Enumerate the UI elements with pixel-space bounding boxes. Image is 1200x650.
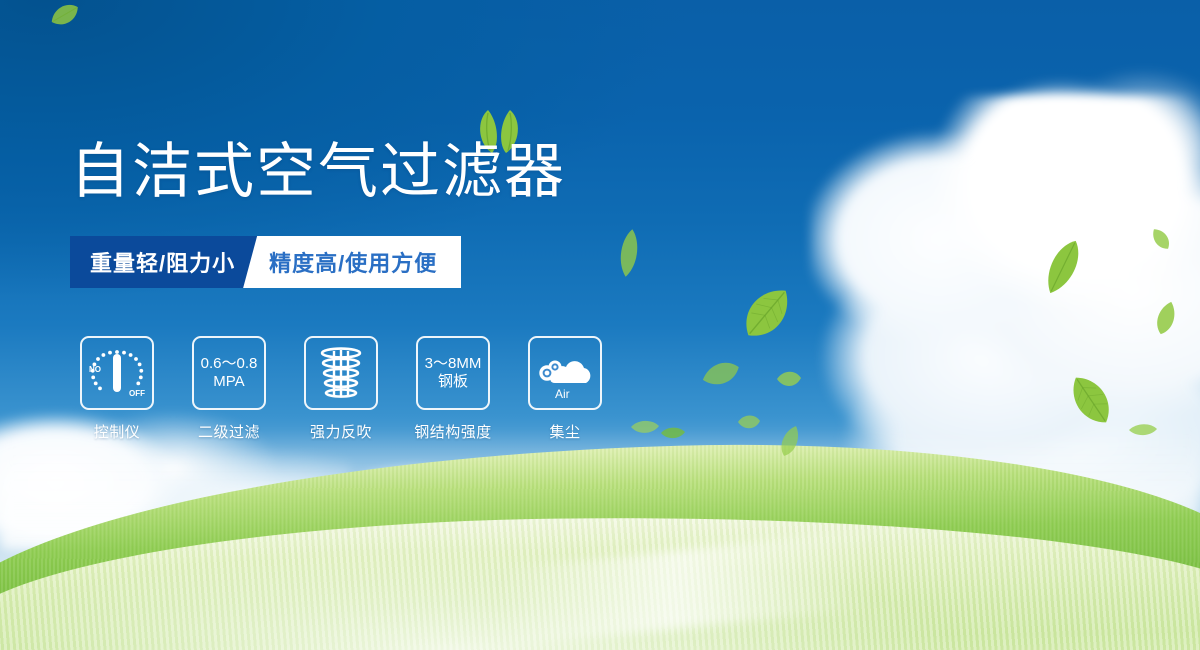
feature-icon-box: Air — [528, 336, 602, 410]
tagline-right: 精度高/使用方便 — [243, 236, 461, 288]
feature-icon-box: 0.6〜0.8MPA — [192, 336, 266, 410]
grass-field — [0, 420, 1200, 650]
feature-item-dust[interactable]: Air 集尘 — [518, 336, 612, 442]
feature-label: 强力反吹 — [310, 421, 372, 442]
pressure-text-icon: 0.6〜0.8MPA — [201, 355, 258, 392]
feature-item-filter[interactable]: 0.6〜0.8MPA 二级过滤 — [182, 336, 276, 442]
feature-item-control[interactable]: NO OFF 控制仪 — [70, 336, 164, 442]
feature-label: 集尘 — [549, 421, 580, 442]
feature-icon-box: 3〜8MM钢板 — [416, 336, 490, 410]
feature-label: 钢结构强度 — [414, 421, 492, 442]
feature-icon-box — [304, 336, 378, 410]
svg-text:Air: Air — [555, 387, 570, 401]
tagline-left: 重量轻/阻力小 — [70, 236, 257, 288]
coil-spring-icon — [312, 345, 370, 401]
svg-text:OFF: OFF — [129, 389, 145, 398]
svg-text:NO: NO — [89, 365, 101, 374]
feature-item-blowback[interactable]: 强力反吹 — [294, 336, 388, 442]
feature-item-steel[interactable]: 3〜8MM钢板 钢结构强度 — [406, 336, 500, 442]
dust-cloud-icon: Air — [533, 343, 597, 403]
page-title: 自洁式空气过滤器 — [70, 142, 566, 202]
steel-plate-text-icon: 3〜8MM钢板 — [425, 355, 482, 392]
feature-list: NO OFF 控制仪 0.6〜0.8MPA 二级过滤 — [70, 336, 612, 442]
field-glow — [0, 530, 1200, 650]
feature-label: 控制仪 — [94, 421, 141, 442]
control-dial-icon: NO OFF — [85, 344, 149, 402]
tagline-bar: 重量轻/阻力小 精度高/使用方便 — [70, 236, 461, 288]
hero-banner: 自洁式空气过滤器 重量轻/阻力小 精度高/使用方便 — [0, 0, 1200, 650]
feature-label: 二级过滤 — [198, 421, 260, 442]
feature-icon-box: NO OFF — [80, 336, 154, 410]
